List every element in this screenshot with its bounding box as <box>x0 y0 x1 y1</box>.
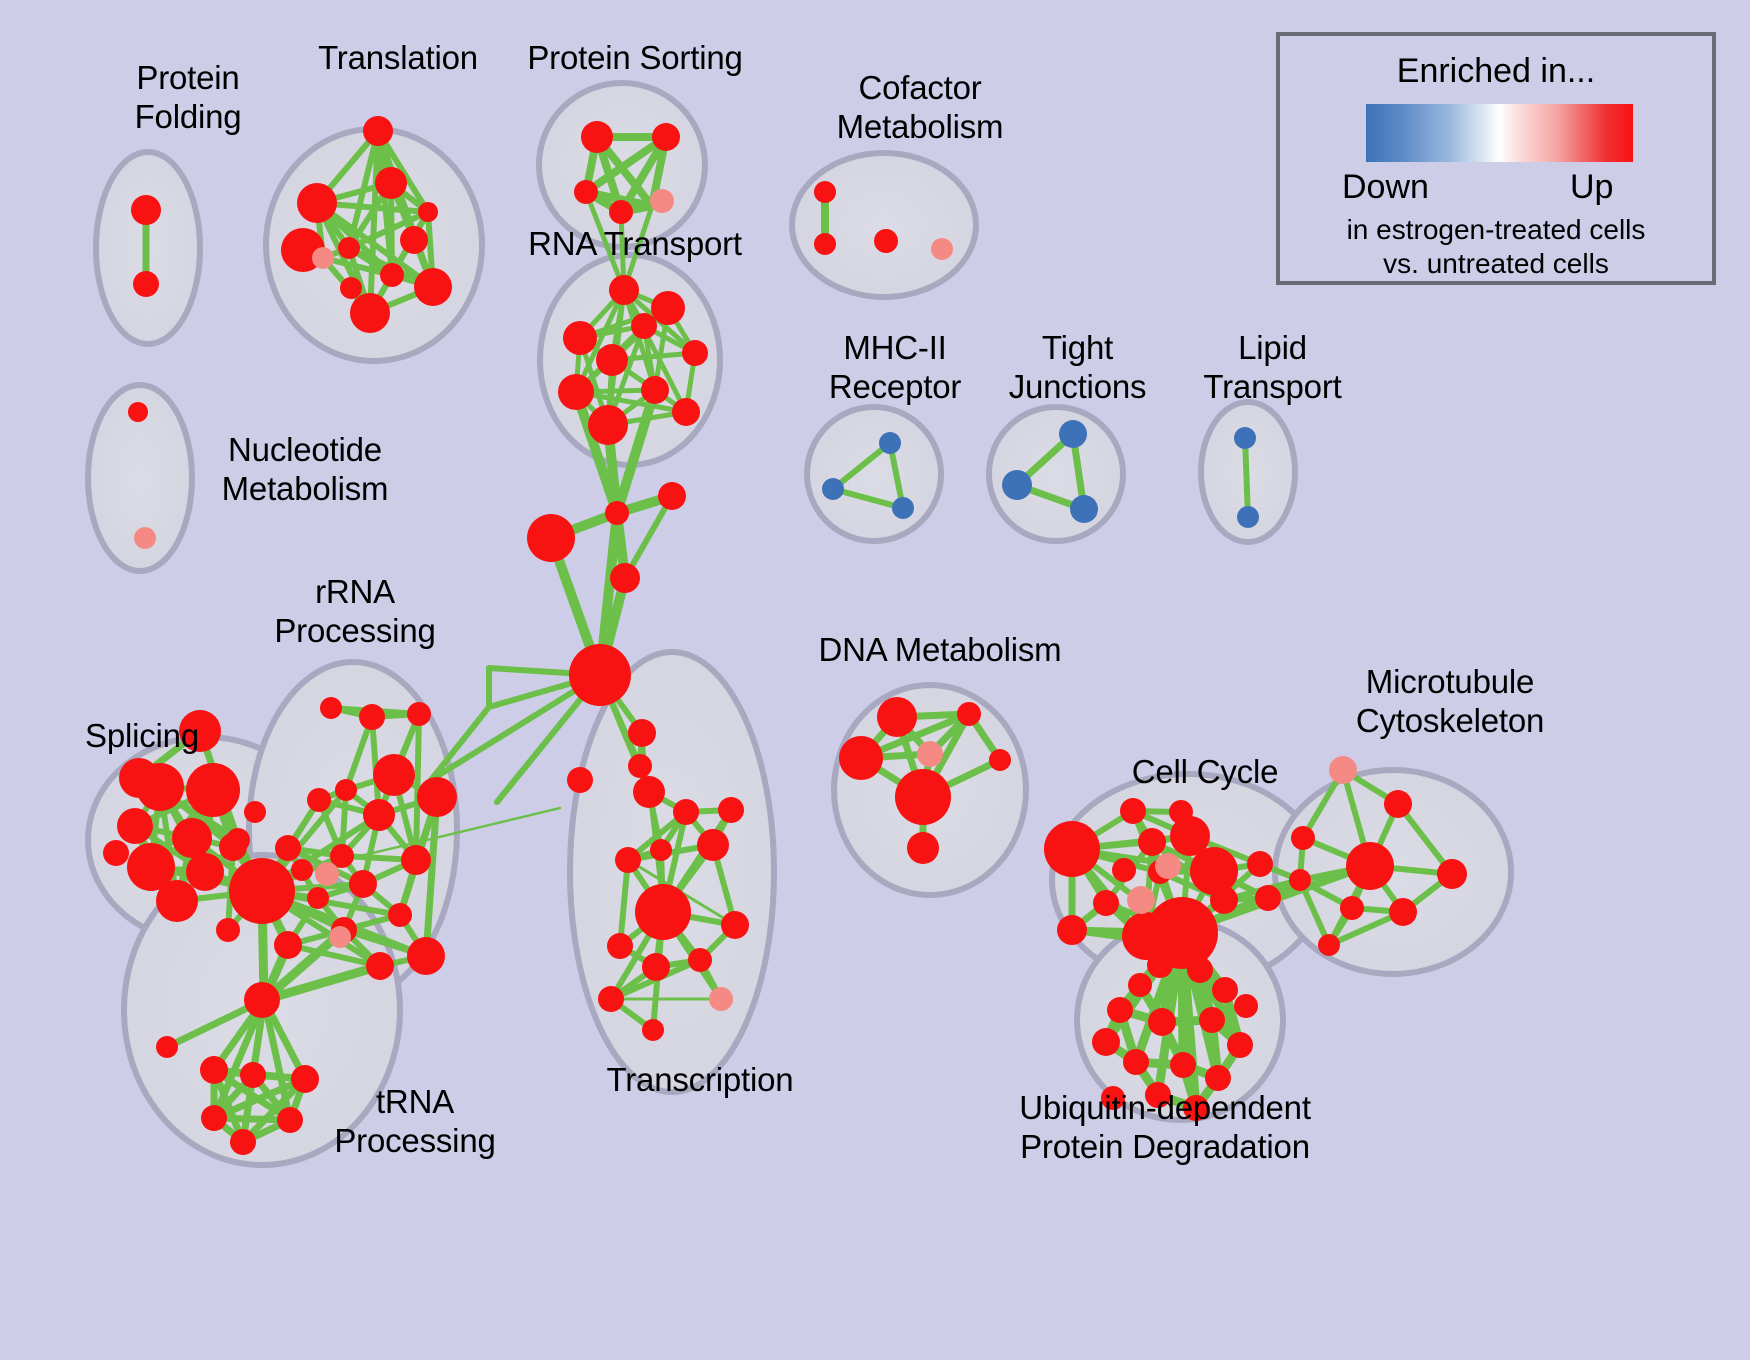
node-up <box>839 736 883 780</box>
node-mid <box>650 189 674 213</box>
node-up <box>874 229 898 253</box>
node-up <box>417 777 457 817</box>
node-up <box>216 918 240 942</box>
node-up <box>103 840 129 866</box>
cluster-label-dna-metabolism: DNA Metabolism <box>790 630 1090 669</box>
node-up <box>156 880 198 922</box>
node-up <box>1289 869 1311 891</box>
enrichment-network-figure: ProteinFolding Translation Protein Sorti… <box>0 0 1750 1360</box>
cluster-label-tight-junctions: TightJunctions <box>975 328 1180 406</box>
cluster-label-transcription: Transcription <box>565 1060 835 1099</box>
node-up <box>628 754 652 778</box>
node-up <box>359 704 385 730</box>
node-mid <box>312 247 334 269</box>
cluster-label-lipid-transport: LipidTransport <box>1165 328 1380 406</box>
node-up <box>291 859 313 881</box>
node-up <box>1120 798 1146 824</box>
node-up <box>642 1019 664 1041</box>
node-up <box>1318 934 1340 956</box>
node-up <box>718 797 744 823</box>
node-up <box>1057 915 1087 945</box>
node-up <box>1138 828 1166 856</box>
node-up <box>672 398 700 426</box>
node-up <box>136 763 184 811</box>
node-up <box>156 1036 178 1058</box>
cluster-label-ubiquitin-protein-degradation: Ubiquitin-dependentProtein Degradation <box>975 1088 1355 1166</box>
node-down <box>1237 506 1259 528</box>
node-up <box>274 931 302 959</box>
node-up <box>1384 790 1412 818</box>
node-up <box>957 702 981 726</box>
node-down <box>1070 495 1098 523</box>
node-up <box>814 181 836 203</box>
node-up <box>1107 997 1133 1023</box>
node-up <box>363 799 395 831</box>
node-up <box>628 719 656 747</box>
node-up <box>335 779 357 801</box>
node-up <box>814 233 836 255</box>
node-up <box>609 200 633 224</box>
node-up <box>350 293 390 333</box>
cluster-label-protein-folding: ProteinFolding <box>78 58 298 136</box>
node-up <box>400 226 428 254</box>
legend-up-label: Up <box>1570 168 1613 207</box>
node-up <box>1128 973 1152 997</box>
node-up <box>1210 886 1238 914</box>
node-up <box>320 697 342 719</box>
node-down <box>1059 420 1087 448</box>
node-up <box>388 903 412 927</box>
node-mid <box>917 741 943 767</box>
node-up <box>658 482 686 510</box>
node-up <box>1199 1007 1225 1033</box>
cluster-label-trna-processing: tRNAProcessing <box>300 1082 530 1160</box>
node-up <box>563 321 597 355</box>
node-up <box>607 933 633 959</box>
node-up <box>375 167 407 199</box>
node-up <box>633 776 665 808</box>
node-up <box>1227 1032 1253 1058</box>
cluster-label-rrna-processing: rRNAProcessing <box>240 572 470 650</box>
node-up <box>418 202 438 222</box>
node-mid <box>134 527 156 549</box>
node-up <box>200 1056 228 1084</box>
node-up <box>219 833 247 861</box>
node-up <box>682 340 708 366</box>
node-up <box>631 313 657 339</box>
cluster-label-nucleotide-metabolism: NucleotideMetabolism <box>180 430 430 508</box>
legend-title: Enriched in... <box>1280 52 1712 91</box>
node-up <box>877 697 917 737</box>
node-down <box>1234 427 1256 449</box>
node-up <box>172 818 212 858</box>
node-up <box>1247 851 1273 877</box>
node-up <box>201 1105 227 1131</box>
node-up <box>569 644 631 706</box>
node-up <box>275 835 301 861</box>
node-up <box>1212 977 1238 1003</box>
halo-mhcii <box>807 407 941 541</box>
node-up <box>131 195 161 225</box>
node-up <box>1291 826 1315 850</box>
node-up <box>588 405 628 445</box>
node-up <box>1147 952 1173 978</box>
node-up <box>366 952 394 980</box>
node-up <box>598 986 624 1012</box>
node-up <box>596 344 628 376</box>
node-up <box>244 982 280 1018</box>
node-up <box>338 237 360 259</box>
node-up <box>641 376 669 404</box>
node-up <box>1148 1008 1176 1036</box>
node-up <box>380 263 404 287</box>
node-up <box>1234 994 1258 1018</box>
node-mid <box>1329 756 1357 784</box>
node-up <box>609 275 639 305</box>
node-up <box>610 563 640 593</box>
node-up <box>673 799 699 825</box>
halo-cofactor <box>792 153 976 297</box>
node-up <box>297 183 337 223</box>
node-up <box>635 884 691 940</box>
node-mid <box>315 862 339 886</box>
legend-caption-line-2: vs. untreated cells <box>1280 248 1712 280</box>
node-up <box>567 767 593 793</box>
node-up <box>117 808 153 844</box>
node-up <box>240 1062 266 1088</box>
node-up <box>650 839 672 861</box>
node-up <box>229 858 295 924</box>
node-up <box>688 948 712 972</box>
node-up <box>373 754 415 796</box>
node-up <box>307 788 331 812</box>
node-mid <box>709 987 733 1011</box>
node-up <box>401 845 431 875</box>
cluster-label-cofactor-metabolism: CofactorMetabolism <box>780 68 1060 146</box>
node-up <box>1044 821 1100 877</box>
node-up <box>1437 859 1467 889</box>
node-up <box>128 402 148 422</box>
node-up <box>615 847 641 873</box>
cluster-label-translation: Translation <box>268 38 528 77</box>
node-up <box>1093 890 1119 916</box>
node-up <box>1389 898 1417 926</box>
node-up <box>721 911 749 939</box>
node-up <box>642 953 670 981</box>
node-down <box>892 497 914 519</box>
cluster-label-microtubule-cytoskeleton: MicrotubuleCytoskeleton <box>1295 662 1605 740</box>
node-up <box>244 801 266 823</box>
node-up <box>186 763 240 817</box>
node-mid <box>1127 886 1155 914</box>
node-up <box>186 853 224 891</box>
node-up <box>1112 858 1136 882</box>
node-up <box>407 937 445 975</box>
legend-color-gradient-bar <box>1366 104 1633 162</box>
node-up <box>1123 1049 1149 1075</box>
node-up <box>133 271 159 297</box>
node-up <box>989 749 1011 771</box>
node-up <box>558 374 594 410</box>
node-up <box>605 501 629 525</box>
node-up <box>230 1129 256 1155</box>
node-up <box>574 180 598 204</box>
node-up <box>651 291 685 325</box>
cluster-label-splicing: Splicing <box>52 716 232 755</box>
node-up <box>340 277 362 299</box>
legend-down-label: Down <box>1342 168 1429 207</box>
node-up <box>907 832 939 864</box>
node-up <box>363 116 393 146</box>
node-up <box>895 769 951 825</box>
node-up <box>1170 1052 1196 1078</box>
node-up <box>414 268 452 306</box>
node-down <box>1002 470 1032 500</box>
node-up <box>1346 842 1394 890</box>
node-up <box>1340 896 1364 920</box>
legend-caption-line-1: in estrogen-treated cells <box>1280 214 1712 246</box>
node-down <box>879 432 901 454</box>
node-up <box>1092 1028 1120 1056</box>
node-mid <box>931 238 953 260</box>
node-up <box>1255 885 1281 911</box>
node-mid <box>1155 853 1181 879</box>
node-up <box>652 123 680 151</box>
node-up <box>581 121 613 153</box>
node-up <box>307 887 329 909</box>
node-up <box>697 829 729 861</box>
node-up <box>527 514 575 562</box>
cluster-label-cell-cycle: Cell Cycle <box>1090 752 1320 791</box>
cluster-label-rna-transport: RNA Transport <box>495 224 775 263</box>
node-up <box>1187 957 1213 983</box>
legend-panel: Enriched in... Down Up in estrogen-treat… <box>1276 32 1716 285</box>
node-down <box>822 478 844 500</box>
node-mid <box>329 926 351 948</box>
node-up <box>407 702 431 726</box>
cluster-label-protein-sorting: Protein Sorting <box>490 38 780 77</box>
node-up <box>349 870 377 898</box>
